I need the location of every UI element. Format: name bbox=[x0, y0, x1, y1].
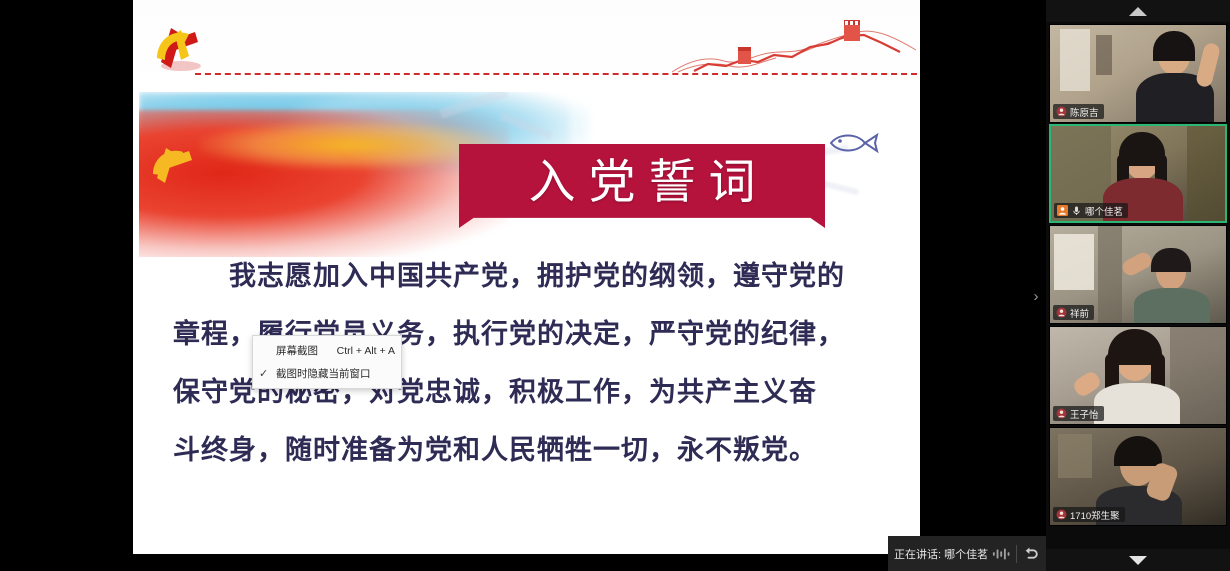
participant-name: 祥前 bbox=[1070, 306, 1089, 320]
chevron-down-icon bbox=[1129, 556, 1147, 565]
chevron-up-icon bbox=[1129, 7, 1147, 16]
filmstrip-scroll-down-button[interactable] bbox=[1046, 549, 1230, 571]
fish-icon bbox=[827, 130, 881, 156]
menu-item-hide-window[interactable]: ✓ 截图时隐藏当前窗口 bbox=[253, 362, 401, 385]
participant-name-tag: 王子怡 bbox=[1053, 406, 1104, 421]
page-title: 入党誓词 bbox=[516, 159, 769, 214]
participant-tile[interactable]: 祥前 bbox=[1049, 225, 1227, 324]
user-badge-icon bbox=[1056, 106, 1067, 117]
participant-name-tag: 陈原吉 bbox=[1053, 104, 1104, 119]
filmstrip-scroll-up-button[interactable] bbox=[1046, 0, 1230, 22]
menu-item-label: 屏幕截图 bbox=[276, 343, 331, 358]
participant-name: 王子怡 bbox=[1070, 407, 1099, 421]
slide-title-banner: 入党誓词 bbox=[459, 144, 825, 228]
audio-wave-icon bbox=[992, 547, 1010, 561]
user-badge-icon bbox=[1056, 408, 1067, 419]
conference-screen: 入党誓词 我志愿加入中国共产党，拥护党的纲领，遵守党的 章程，履行党员义务，执行… bbox=[0, 0, 1230, 571]
participant-tile[interactable]: 王子怡 bbox=[1049, 326, 1227, 425]
flag-party-emblem-icon bbox=[149, 142, 201, 190]
participant-filmstrip: 陈原吉 bbox=[1046, 0, 1230, 571]
avatar-icon bbox=[1057, 205, 1068, 216]
participant-name-tag: 1710郑生聚 bbox=[1053, 507, 1125, 522]
participant-tile[interactable]: 哪个佳茗 bbox=[1049, 124, 1227, 223]
slide-header bbox=[133, 0, 920, 92]
speaking-status-label: 正在讲话: 哪个佳茗 bbox=[894, 546, 988, 562]
menu-item-screenshot[interactable]: 屏幕截图 Ctrl + Alt + A bbox=[253, 339, 401, 362]
toolbar-divider bbox=[1016, 545, 1017, 563]
party-emblem-icon bbox=[151, 22, 211, 76]
menu-item-shortcut: Ctrl + Alt + A bbox=[337, 345, 395, 357]
participant-name-tag: 哪个佳茗 bbox=[1054, 203, 1128, 218]
check-icon: ✓ bbox=[259, 367, 276, 380]
red-dashed-divider bbox=[195, 73, 917, 75]
menu-item-label: 截图时隐藏当前窗口 bbox=[276, 366, 395, 381]
participant-tile[interactable]: 陈原吉 bbox=[1049, 24, 1227, 123]
presentation-slide: 入党誓词 我志愿加入中国共产党，拥护党的纲领，遵守党的 章程，履行党员义务，执行… bbox=[133, 0, 920, 554]
collapse-panel-chevron-icon[interactable]: › bbox=[1026, 278, 1046, 314]
screenshot-context-menu[interactable]: 屏幕截图 Ctrl + Alt + A ✓ 截图时隐藏当前窗口 bbox=[252, 335, 402, 389]
participant-name: 1710郑生聚 bbox=[1070, 508, 1120, 522]
participant-name-tag: 祥前 bbox=[1053, 305, 1094, 320]
great-wall-icon bbox=[668, 14, 920, 76]
user-badge-icon bbox=[1056, 509, 1067, 520]
participant-name: 哪个佳茗 bbox=[1085, 204, 1123, 218]
oath-line: 斗终身，随时准备为党和人民牺牲一切，永不叛党。 bbox=[173, 422, 880, 480]
user-badge-icon bbox=[1056, 307, 1067, 318]
shared-screen-area: 入党誓词 我志愿加入中国共产党，拥护党的纲领，遵守党的 章程，履行党员义务，执行… bbox=[0, 0, 1046, 571]
mic-icon bbox=[1071, 205, 1082, 216]
oath-line: 我志愿加入中国共产党，拥护党的纲领，遵守党的 bbox=[173, 248, 880, 306]
participant-tile[interactable]: 1710郑生聚 bbox=[1049, 427, 1227, 526]
speaking-status-bar: 正在讲话: 哪个佳茗 bbox=[888, 536, 1046, 571]
undo-arrow-icon[interactable] bbox=[1023, 546, 1040, 562]
participant-name: 陈原吉 bbox=[1070, 105, 1099, 119]
